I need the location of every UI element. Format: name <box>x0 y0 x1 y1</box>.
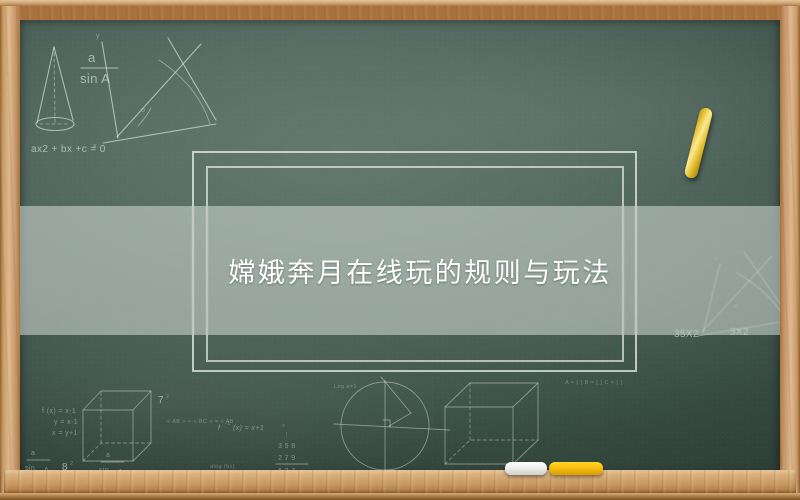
blackboard-scene: a sin A y x o ax2 + bx +c = <box>0 0 800 500</box>
chalk-quadratic-equation: ax2 + bx +c = 0 <box>31 144 106 155</box>
chalkboard-surface: a sin A y x o ax2 + bx +c = <box>20 20 780 475</box>
title-banner-band: 嫦娥奔月在线玩的规则与玩法 <box>20 206 780 335</box>
svg-text:2: 2 <box>166 394 169 400</box>
chalk-tray <box>4 470 796 494</box>
svg-text:3 5 8: 3 5 8 <box>278 443 296 450</box>
svg-text:a: a <box>106 452 110 459</box>
chalk-matrix: x | 3 5 8 2 7 9 6 3 7 <box>276 423 308 475</box>
svg-text:sin A: sin A <box>80 71 110 86</box>
svg-text:y: y <box>96 33 100 40</box>
svg-text:(x) = x+1: (x) = x+1 <box>233 425 264 432</box>
svg-text:a: a <box>88 50 96 65</box>
svg-text:f (x) = x-1: f (x) = x-1 <box>42 408 76 415</box>
chalk-cube-right <box>445 383 538 464</box>
svg-text:f: f <box>218 425 221 432</box>
chalk-power-7-squared: 7 2 <box>158 394 169 406</box>
yellow-chalk-stick-on-board[interactable] <box>683 106 713 179</box>
svg-text:-1: -1 <box>225 421 231 427</box>
svg-text:o: o <box>141 107 145 114</box>
svg-text:a: a <box>31 450 35 457</box>
chalk-tray-grain <box>4 470 796 494</box>
chalk-set-notation: A = { } B = { } C = { } <box>565 380 623 386</box>
svg-text:x = y+1: x = y+1 <box>52 430 78 437</box>
svg-text:x: x <box>93 143 97 150</box>
chalk-angle-axes-diagram: y x o <box>93 33 216 150</box>
chalk-log-label: Log a=1 <box>334 384 357 390</box>
wood-frame-bottom-shadow <box>0 493 800 500</box>
page-title: 嫦娥奔月在线玩的规则与玩法 <box>228 251 612 290</box>
chalk-cone-shape <box>36 47 74 131</box>
yellow-chalk-piece[interactable] <box>549 462 603 475</box>
white-chalk-piece[interactable] <box>505 462 547 475</box>
svg-text:y = x-1: y = x-1 <box>54 419 78 426</box>
svg-text:|: | <box>286 432 288 438</box>
chalk-circle-radius-diagram <box>334 377 450 472</box>
chalk-function-equations: f (x) = x-1 y = x-1 x = y+1 <box>42 408 78 437</box>
chalk-inverse-function: f -1 (x) = x+1 <box>218 421 264 432</box>
svg-text:2 7 9: 2 7 9 <box>278 455 296 462</box>
wood-frame-top-highlight <box>0 0 800 6</box>
svg-text:2: 2 <box>70 461 73 467</box>
chalk-cube-left <box>83 391 151 461</box>
svg-text:x: x <box>282 423 285 429</box>
chalk-vector-sum: < AB > + < BC > = < AB <box>167 419 234 425</box>
svg-text:7: 7 <box>158 395 164 406</box>
chalk-fraction-a-sinA-top: a sin A <box>80 50 118 86</box>
